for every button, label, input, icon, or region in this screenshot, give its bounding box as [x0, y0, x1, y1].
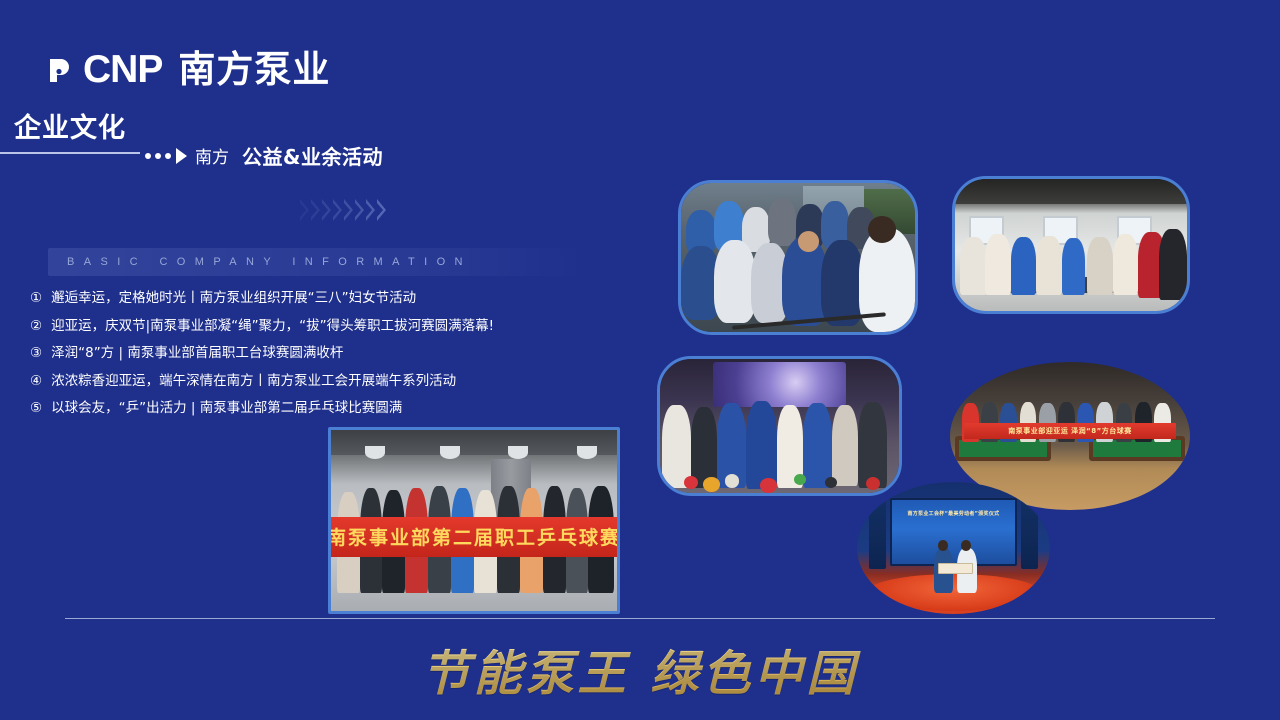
list-item[interactable]: ③ 泽润“8”方 | 南泵事业部首届职工台球赛圆满收杆	[30, 347, 650, 361]
title-underline	[0, 152, 140, 154]
billiards-banner-text: 南泵事业部迎亚运 泽润“8”方台球赛	[1008, 426, 1132, 436]
pingpong-banner-text: 南泵事业部第二届职工乒乓球赛	[328, 523, 620, 550]
list-item[interactable]: ⑤ 以球会友，“乒”出活力 | 南泵事业部第二届乒乓球比赛圆满	[30, 402, 650, 416]
subtitle-row: 南方 公益&业余活动	[140, 141, 383, 170]
photo-table-tennis-group[interactable]: 南泵事业部第二届职工乒乓球赛	[328, 427, 620, 614]
list-item-number: ①	[30, 292, 42, 306]
list-item-label: 泽润“8”方 | 南泵事业部首届职工台球赛圆满收杆	[51, 347, 343, 361]
list-item[interactable]: ④ 浓浓粽香迎亚运，端午深情在南方丨南方泵业工会开展端午系列活动	[30, 375, 650, 389]
list-item-label: 迎亚运，庆双节|南泵事业部凝“绳”聚力，“拔”得头筹职工拔河赛圆满落幕!	[51, 320, 494, 334]
list-item[interactable]: ① 邂逅幸运，定格她时光丨南方泵业组织开展“三八”妇女节活动	[30, 292, 650, 306]
title-block: 企业文化 南方 公益&业余活动	[0, 113, 700, 145]
billiards-banner: 南泵事业部迎亚运 泽润“8”方台球赛	[964, 423, 1175, 439]
basic-company-information-band: BASIC COMPANY INFORMATION	[48, 248, 588, 276]
list-item-number: ②	[30, 320, 42, 334]
bottom-divider	[65, 618, 1215, 619]
list-item[interactable]: ② 迎亚运，庆双节|南泵事业部凝“绳”聚力，“拔”得头筹职工拔河赛圆满落幕!	[30, 320, 650, 334]
list-item-number: ④	[30, 375, 42, 389]
list-item-number: ⑤	[30, 402, 42, 416]
brand-name-cn: 南方泵业	[178, 51, 330, 88]
list-item-label: 以球会友，“乒”出活力 | 南泵事业部第二届乒乓球比赛圆满	[51, 402, 402, 416]
activity-list: ① 邂逅幸运，定格她时光丨南方泵业组织开展“三八”妇女节活动 ② 迎亚运，庆双节…	[30, 292, 650, 430]
chevron-decoration-icon	[300, 199, 386, 221]
subtitle-main: 公益&业余活动	[242, 141, 383, 170]
photo-cooking-activity[interactable]	[952, 176, 1190, 314]
triangle-arrow-icon	[176, 148, 187, 164]
list-item-number: ③	[30, 347, 42, 361]
photo-asian-games-event[interactable]	[657, 356, 902, 496]
subtitle-small: 南方	[195, 143, 229, 168]
slide-root: CNP 南方泵业 企业文化 南方 公益&业余活动 BASIC COMPANY I…	[0, 0, 1280, 720]
brand-name-en: CNP	[83, 50, 162, 89]
list-item-label: 浓浓粽香迎亚运，端午深情在南方丨南方泵业工会开展端午系列活动	[51, 375, 456, 389]
pingpong-banner: 南泵事业部第二届职工乒乓球赛	[331, 517, 617, 557]
list-item-label: 邂逅幸运，定格她时光丨南方泵业组织开展“三八”妇女节活动	[51, 292, 416, 306]
cnp-logo-mark-icon	[44, 55, 74, 85]
photo-award-ceremony[interactable]: 南方泵业工会杯“最美劳动者”颁奖仪式	[857, 482, 1050, 614]
award-screen-text: 南方泵业工会杯“最美劳动者”颁奖仪式	[892, 510, 1015, 517]
basic-company-information-label: BASIC COMPANY INFORMATION	[48, 256, 472, 268]
photo-tug-of-war[interactable]	[678, 180, 918, 335]
dots-icon	[145, 153, 171, 159]
award-stage-screen: 南方泵业工会杯“最美劳动者”颁奖仪式	[890, 498, 1017, 567]
brand-logo: CNP 南方泵业	[44, 50, 330, 89]
slogan-text: 节能泵王 绿色中国	[0, 634, 1280, 704]
